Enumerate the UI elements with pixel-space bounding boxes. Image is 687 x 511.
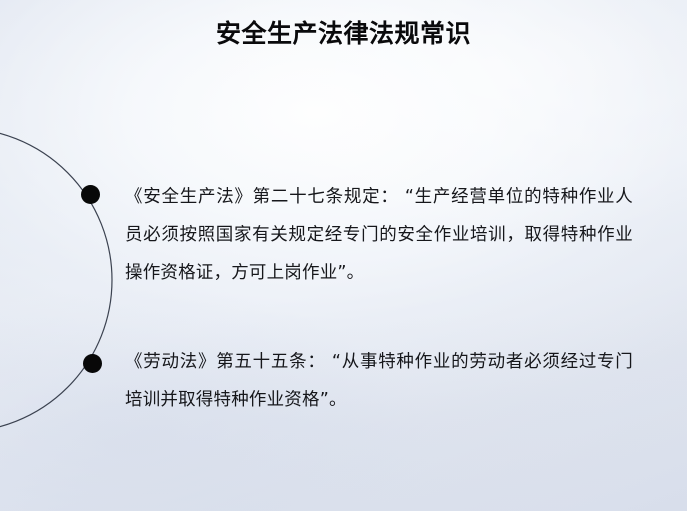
page-title: 安全生产法律法规常识 <box>0 17 687 51</box>
presentation-slide: 安全生产法律法规常识 《安全生产法》第二十七条规定： “生产经营单位的特种作业人… <box>0 0 687 511</box>
bullet-paragraph-1: 《安全生产法》第二十七条规定： “生产经营单位的特种作业人员必须按照国家有关规定… <box>125 178 633 292</box>
bullet-paragraph-2: 《劳动法》第五十五条： “从事特种作业的劳动者必须经过专门培训并取得特种作业资格… <box>125 343 633 419</box>
bullet-dot-icon <box>83 354 102 373</box>
bullet-dot-icon <box>81 185 100 204</box>
